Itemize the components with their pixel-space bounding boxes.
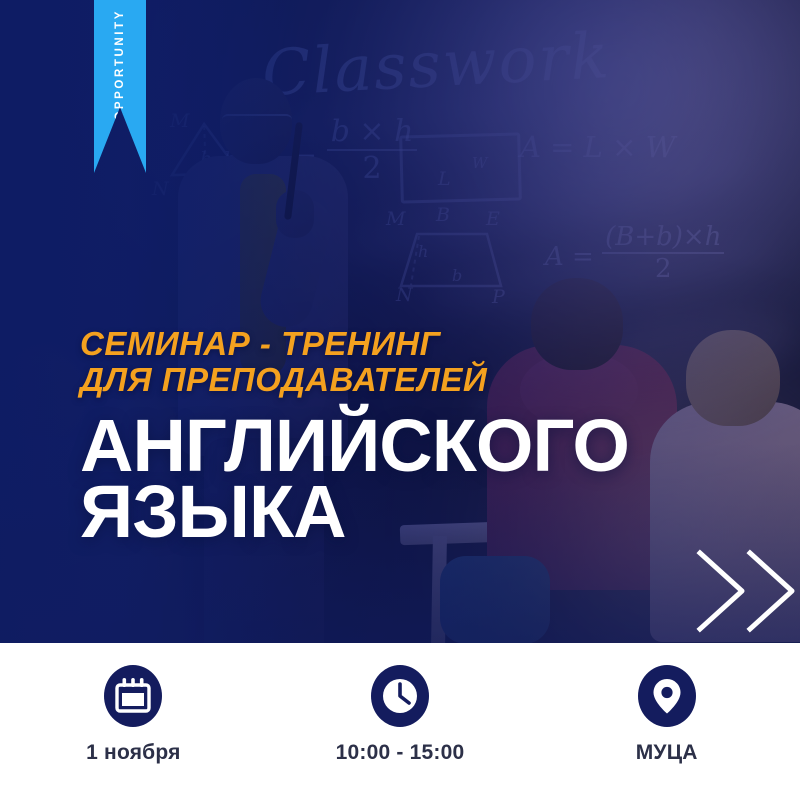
info-label-location: МУЦА	[636, 741, 698, 765]
subtitle-line-2: ДЛЯ ПРЕПОДАВАТЕЛЕЙ	[80, 362, 629, 398]
location-pin-icon	[637, 665, 697, 727]
subtitle-line-1: СЕМИНАР - ТРЕНИНГ	[80, 325, 440, 362]
info-item-time: 10:00 - 15:00	[267, 643, 534, 765]
double-chevron-right-icon	[686, 545, 800, 637]
headline-block: СЕМИНАР - ТРЕНИНГ ДЛЯ ПРЕПОДАВАТЕЛЕЙ АНГ…	[80, 326, 629, 546]
event-info-bar: 1 ноября 10:00 - 15:00 МУЦА	[0, 643, 800, 800]
page-title: АНГЛИЙСКОГО ЯЗЫКА	[80, 413, 629, 546]
calendar-icon	[103, 665, 163, 727]
subtitle: СЕМИНАР - ТРЕНИНГ ДЛЯ ПРЕПОДАВАТЕЛЕЙ	[80, 326, 629, 399]
ribbon-label: OPPORTUNITY	[114, 9, 126, 121]
promo-poster: Classwork M h b N = b × h 2 L W A = L × …	[0, 0, 800, 800]
info-label-date: 1 ноября	[86, 741, 180, 765]
title-line-2: ЯЗЫКА	[80, 479, 629, 546]
info-label-time: 10:00 - 15:00	[336, 741, 465, 765]
info-item-location: МУЦА	[533, 643, 800, 765]
clock-icon	[370, 665, 430, 727]
info-item-date: 1 ноября	[0, 643, 267, 765]
